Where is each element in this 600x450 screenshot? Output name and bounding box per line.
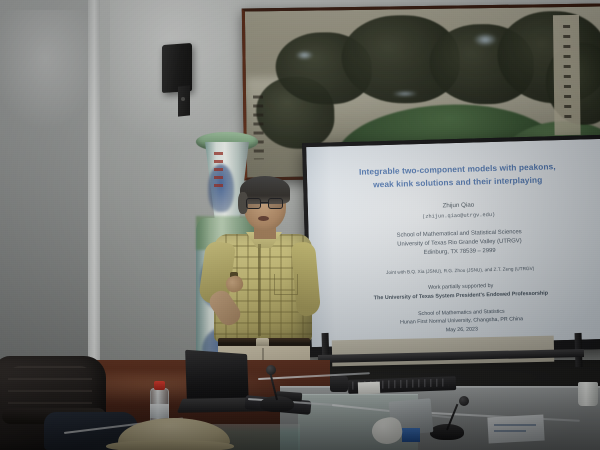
paper-stack (358, 382, 380, 395)
eyeglasses (246, 198, 284, 209)
wall-left-glow (0, 10, 100, 130)
photo-scene: Integrable two-component models with pea… (0, 0, 600, 450)
keyboard-end-block (330, 376, 348, 392)
display-screen: Integrable two-component models with pea… (306, 139, 600, 347)
name-card-text-line (494, 430, 526, 432)
presenter-shirt-placket (258, 244, 261, 336)
wall-speaker-mount (178, 85, 190, 116)
eyeglass-lens-right (268, 198, 283, 209)
painting-glass-glare (473, 33, 497, 46)
painting-calligraphy (253, 95, 264, 159)
eyeglass-bridge (261, 202, 268, 203)
wall-left (0, 0, 96, 372)
wall-speaker-led (181, 97, 185, 101)
name-card-text-line (494, 424, 536, 426)
water-bottle-cap (154, 381, 165, 390)
painting-glass-glare (295, 51, 313, 60)
slide-support: Work partially supported by The Universi… (328, 279, 593, 303)
slide-joint-work: Joint with B.Q. Xia (JSNU), R.G. Zhou (J… (328, 264, 593, 276)
slide-content: Integrable two-component models with pea… (306, 139, 600, 347)
paper-cup (578, 382, 598, 406)
name-card (487, 415, 544, 444)
microphone-head (459, 396, 469, 406)
slide-title: Integrable two-component models with pea… (325, 159, 591, 192)
painting-glass-glare (392, 91, 418, 96)
water-bottle-label (150, 404, 169, 418)
scroll-calligraphy (563, 25, 571, 120)
presenter (196, 180, 324, 380)
hanging-scroll (553, 15, 581, 135)
microphone-head (266, 365, 276, 375)
control-panel-indicator (402, 428, 420, 442)
eyeglass-lens-left (246, 198, 261, 209)
slide-host: School of Mathematics and Statistics Hun… (329, 305, 595, 338)
presenter-mouth (258, 216, 269, 221)
presentation-display[interactable]: Integrable two-component models with pea… (302, 135, 600, 357)
presenter-shirt-pocket (274, 274, 298, 295)
baseball-cap-brim (106, 440, 234, 450)
slide-affiliation: School of Mathematical and Statistical S… (327, 226, 593, 261)
